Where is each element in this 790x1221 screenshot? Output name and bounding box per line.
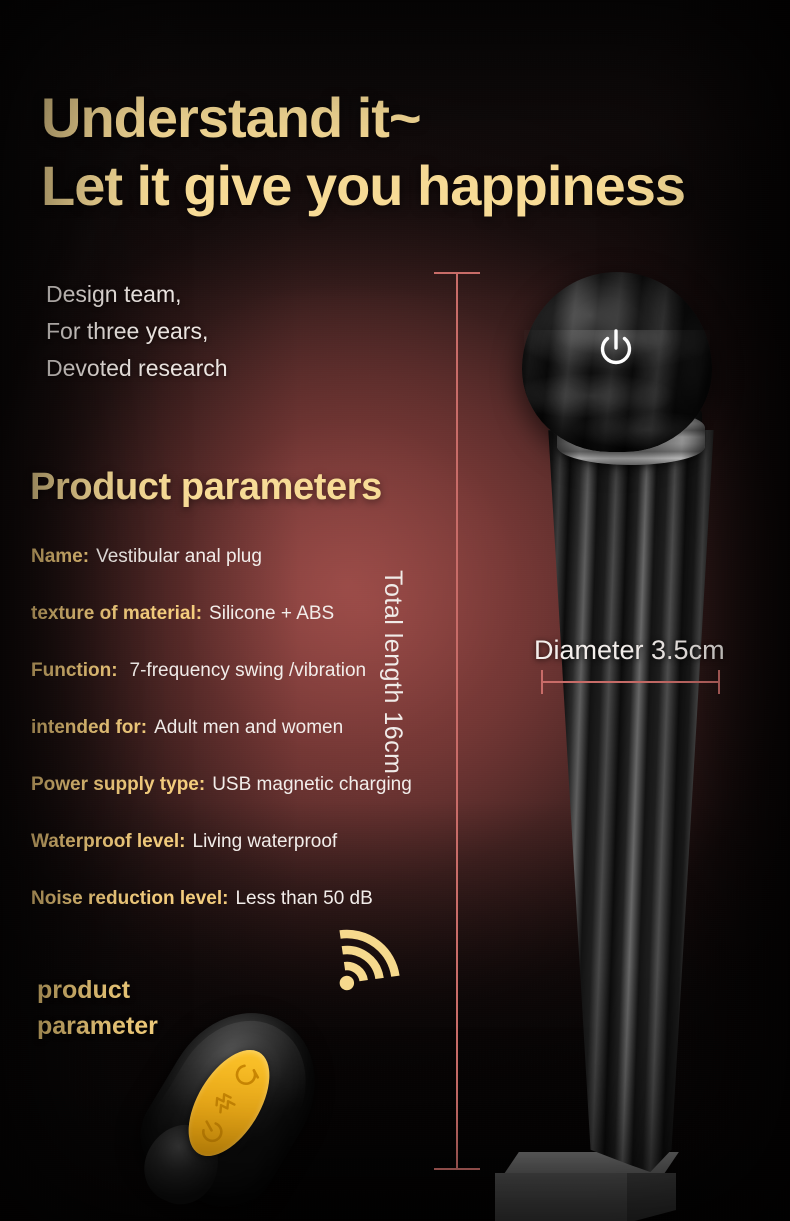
spec-key: texture of material: (31, 603, 202, 624)
diameter-label: Diameter 3.5cm (534, 635, 725, 666)
spec-value: 7-frequency swing /vibration (130, 660, 367, 681)
section-title: Product parameters (30, 466, 382, 509)
subtitle-block: Design team, For three years, Devoted re… (46, 276, 228, 387)
spec-value: Vestibular anal plug (96, 546, 262, 567)
subtitle-line-3: Devoted research (46, 350, 228, 387)
spec-row-noise-reduction: Noise reduction level:Less than 50 dB (31, 888, 373, 910)
total-length-label: Total length 16cm (378, 570, 407, 774)
footer-label: product parameter (37, 972, 158, 1044)
product-infographic-poster: Understand it~ Let it give you happiness… (0, 0, 790, 1221)
diameter-guide-line (541, 681, 720, 683)
total-length-guide-line (456, 273, 458, 1170)
page-title: Understand it~ Let it give you happiness (41, 84, 685, 220)
spec-row-material: texture of material:Silicone + ABS (31, 603, 334, 625)
spec-value: Living waterproof (193, 831, 338, 852)
subtitle-line-2: For three years, (46, 313, 228, 350)
spec-value: USB magnetic charging (212, 774, 412, 795)
spec-row-intended-for: intended for:Adult men and women (31, 717, 343, 739)
spec-key: intended for: (31, 717, 147, 738)
spec-key: Noise reduction level: (31, 888, 228, 909)
diameter-cap-right (718, 670, 720, 694)
spec-key: Function: (31, 660, 118, 681)
footer-line-2: parameter (37, 1008, 158, 1044)
spec-value: Adult men and women (154, 717, 343, 738)
spec-row-name: Name:Vestibular anal plug (31, 546, 262, 568)
headline-line-2: Let it give you happiness (41, 152, 685, 220)
spec-row-power-supply: Power supply type:USB magnetic charging (31, 774, 412, 796)
headline-line-1: Understand it~ (41, 86, 421, 149)
spec-row-waterproof: Waterproof level:Living waterproof (31, 831, 337, 853)
total-length-cap-bottom (434, 1168, 480, 1170)
spec-value: Less than 50 dB (235, 888, 372, 909)
spec-key: Power supply type: (31, 774, 205, 795)
spec-key: Waterproof level: (31, 831, 186, 852)
footer-line-1: product (37, 972, 158, 1008)
spec-key: Name: (31, 546, 89, 567)
spec-value: Silicone + ABS (209, 603, 334, 624)
subtitle-line-1: Design team, (46, 276, 228, 313)
spec-row-function: Function:7-frequency swing /vibration (31, 660, 366, 682)
